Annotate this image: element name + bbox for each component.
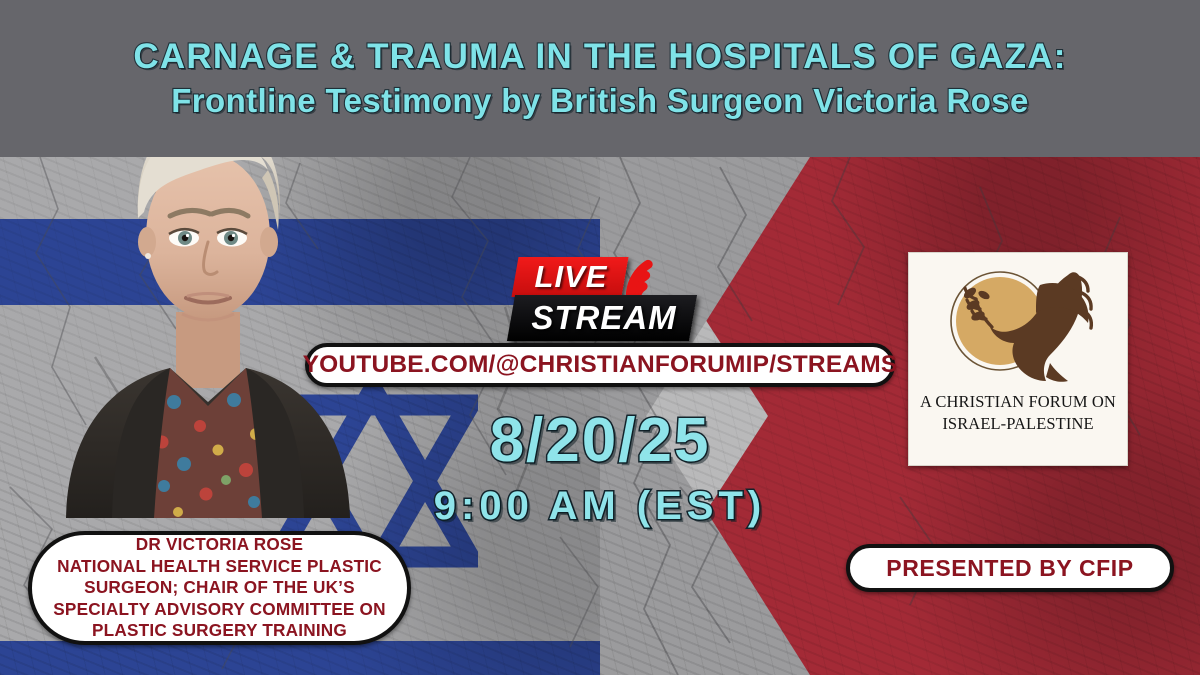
cfip-logo-line-1: A CHRISTIAN FORUM ON <box>913 391 1123 413</box>
speaker-bio-line-4: PLASTIC SURGERY TRAINING <box>92 620 347 642</box>
presented-by-pill: PRESENTED BY CFIP <box>846 544 1174 592</box>
israel-flag-bottom-stripe <box>0 641 640 675</box>
stream-label: STREAM <box>515 297 693 339</box>
stream-url-pill[interactable]: YOUTUBE.COM/@CHRISTIANFORUMIP/STREAMS <box>305 343 895 387</box>
cfip-logo-box: A CHRISTIAN FORUM ON ISRAEL-PALESTINE <box>908 252 1128 466</box>
speaker-bio-pill: DR VICTORIA ROSE NATIONAL HEALTH SERVICE… <box>28 531 411 645</box>
event-time: 9:00 AM (EST) <box>420 474 780 538</box>
speaker-name: DR VICTORIA ROSE <box>136 534 303 556</box>
poster-header: CARNAGE & TRAUMA IN THE HOSPITALS OF GAZ… <box>0 0 1200 157</box>
live-stream-badge: LIVE STREAM <box>505 243 705 355</box>
page-title-line-1: CARNAGE & TRAUMA IN THE HOSPITALS OF GAZ… <box>133 35 1066 79</box>
live-label: LIVE <box>519 258 623 296</box>
stream-url-text: YOUTUBE.COM/@CHRISTIANFORUMIP/STREAMS <box>303 351 898 379</box>
dove-with-olive-branch-icon <box>918 259 1118 391</box>
event-datetime: 8/20/25 9:00 AM (EST) <box>420 408 780 538</box>
page-title-line-2: Frontline Testimony by British Surgeon V… <box>171 79 1029 123</box>
speaker-bio-line-1: NATIONAL HEALTH SERVICE PLASTIC <box>57 556 382 578</box>
cfip-logo-text: A CHRISTIAN FORUM ON ISRAEL-PALESTINE <box>913 391 1123 435</box>
event-promo-poster: LIVE STREAM YOUTUBE.COM/@CHRISTIANFORUMI… <box>0 0 1200 675</box>
live-row: LIVE <box>505 251 705 301</box>
cfip-logo-line-2: ISRAEL-PALESTINE <box>913 413 1123 435</box>
speaker-bio-line-2: SURGEON; CHAIR OF THE UK’S <box>84 577 355 599</box>
presented-by-text: PRESENTED BY CFIP <box>886 555 1134 582</box>
speaker-bio-line-3: SPECIALTY ADVISORY COMMITTEE ON <box>53 599 385 621</box>
event-date: 8/20/25 <box>420 408 780 474</box>
